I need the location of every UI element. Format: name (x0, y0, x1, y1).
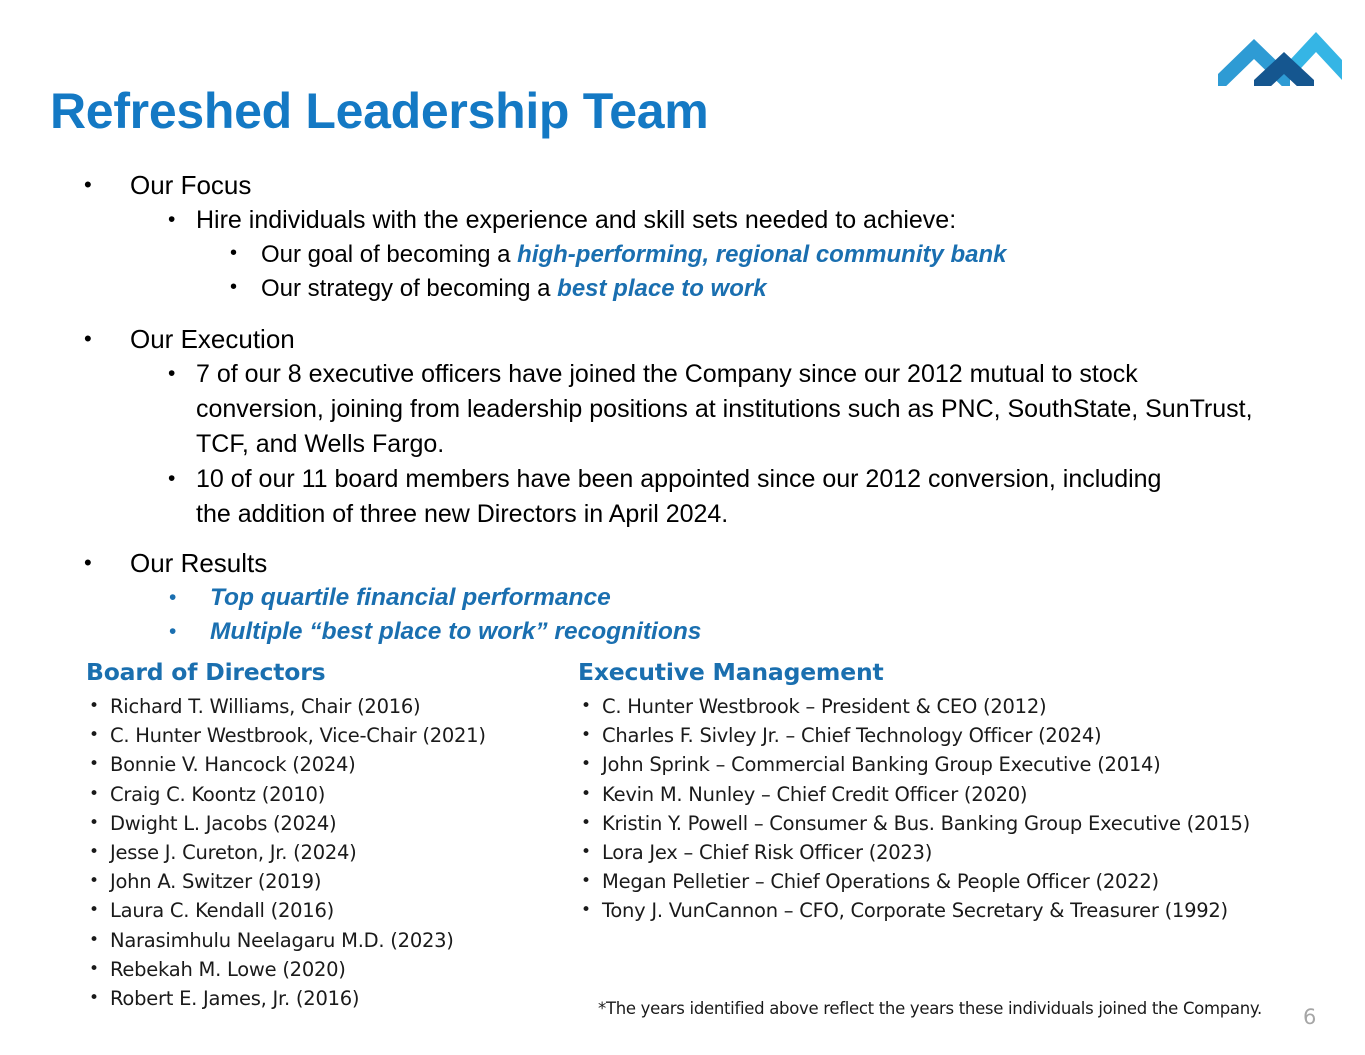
bullet-focus-item-1: • Our strategy of becoming a best place … (0, 272, 1330, 306)
bullet-glyph-icon: • (84, 174, 92, 196)
list-item-label: Tony J. VunCannon – CFO, Corporate Secre… (602, 899, 1228, 922)
list-item: •John A. Switzer (2019) (86, 867, 556, 896)
bullet-glyph-icon: • (581, 750, 591, 779)
list-item: •Narasimhulu Neelagaru M.D. (2023) (86, 926, 556, 955)
list-item-label: Dwight L. Jacobs (2024) (110, 812, 336, 835)
bullet-glyph-icon: • (89, 984, 99, 1013)
results-block: • Our Results • Top quartile financial p… (0, 545, 1330, 649)
bullet-focus-sub: • Hire individuals with the experience a… (0, 203, 1330, 238)
page-number: 6 (1303, 1005, 1316, 1029)
chevron-logo-icon (1216, 14, 1344, 86)
list-item: •Tony J. VunCannon – CFO, Corporate Secr… (578, 896, 1308, 925)
list-item-label: Megan Pelletier – Chief Operations & Peo… (602, 870, 1159, 893)
list-item: •Laura C. Kendall (2016) (86, 896, 556, 925)
bullet-glyph-icon: • (89, 926, 99, 955)
focus-item-0-emphasis: high-performing, regional community bank (517, 241, 1006, 268)
bullet-our-execution: • Our Execution (0, 321, 1330, 357)
list-item-label: Lora Jex – Chief Risk Officer (2023) (602, 841, 932, 864)
list-item: •C. Hunter Westbrook, Vice-Chair (2021) (86, 721, 556, 750)
list-item-label: Kevin M. Nunley – Chief Credit Officer (… (602, 783, 1027, 806)
bullet-glyph-icon: • (169, 587, 176, 608)
chevron-logo (1216, 14, 1344, 86)
list-item-label: Narasimhulu Neelagaru M.D. (2023) (110, 929, 454, 952)
focus-item-0-lead: Our goal of becoming a (261, 241, 517, 268)
bullet-glyph-icon: • (89, 809, 99, 838)
list-item-label: Rebekah M. Lowe (2020) (110, 958, 346, 981)
bullet-our-results: • Our Results (0, 545, 1330, 581)
bullet-glyph-icon: • (89, 721, 99, 750)
list-item: •Lora Jex – Chief Risk Officer (2023) (578, 838, 1308, 867)
bullet-our-focus: • Our Focus (0, 167, 1330, 203)
bullet-glyph-icon: • (581, 809, 591, 838)
focus-item-0: Our goal of becoming a high-performing, … (261, 238, 1330, 272)
focus-heading: Our Focus (130, 167, 1330, 203)
bullet-focus-item-0: • Our goal of becoming a high-performing… (0, 238, 1330, 272)
bullet-glyph-icon: • (581, 838, 591, 867)
list-item-label: Jesse J. Cureton, Jr. (2024) (110, 841, 357, 864)
list-item: •Charles F. Sivley Jr. – Chief Technolog… (578, 721, 1308, 750)
bullet-glyph-icon: • (89, 955, 99, 984)
list-item: •Kristin Y. Powell – Consumer & Bus. Ban… (578, 809, 1308, 838)
bullet-glyph-icon: • (581, 867, 591, 896)
list-item: •Megan Pelletier – Chief Operations & Pe… (578, 867, 1308, 896)
list-item-label: Laura C. Kendall (2016) (110, 899, 334, 922)
page-title: Refreshed Leadership Team (50, 82, 708, 140)
focus-block: • Our Focus • Hire individuals with the … (0, 167, 1330, 306)
bullet-glyph-icon: • (581, 896, 591, 925)
list-item: •Dwight L. Jacobs (2024) (86, 809, 556, 838)
bullet-glyph-icon: • (89, 750, 99, 779)
results-heading: Our Results (130, 545, 1330, 581)
bullet-glyph-icon: • (168, 363, 175, 384)
execution-heading: Our Execution (130, 321, 1330, 357)
list-item-label: Charles F. Sivley Jr. – Chief Technology… (602, 724, 1101, 747)
list-item: •Rebekah M. Lowe (2020) (86, 955, 556, 984)
bullet-glyph-icon: • (581, 692, 591, 721)
bullet-results-item-0: • Top quartile financial performance (0, 581, 1330, 615)
bullet-glyph-icon: • (168, 468, 175, 489)
bullet-glyph-icon: • (581, 780, 591, 809)
executive-management-column: Executive Management •C. Hunter Westbroo… (578, 658, 1308, 926)
bullet-glyph-icon: • (89, 896, 99, 925)
board-of-directors-column: Board of Directors •Richard T. Williams,… (86, 658, 556, 1013)
bullet-glyph-icon: • (581, 721, 591, 750)
bullet-glyph-icon: • (84, 328, 92, 350)
focus-sub-text: Hire individuals with the experience and… (196, 203, 1330, 238)
executive-management-heading: Executive Management (578, 658, 1308, 686)
bullet-glyph-icon: • (89, 867, 99, 896)
footnote: *The years identified above reflect the … (598, 999, 1262, 1018)
list-item-label: John Sprink – Commercial Banking Group E… (602, 753, 1161, 776)
bullet-glyph-icon: • (89, 692, 99, 721)
execution-item-1: 10 of our 11 board members have been app… (196, 462, 1200, 532)
list-item: •Richard T. Williams, Chair (2016) (86, 692, 556, 721)
body-content: • Our Focus • Hire individuals with the … (0, 167, 1330, 649)
spacer (0, 532, 1330, 545)
bullet-execution-item-0: • 7 of our 8 executive officers have joi… (0, 357, 1330, 462)
list-item-label: Robert E. James, Jr. (2016) (110, 987, 359, 1010)
list-item-label: Kristin Y. Powell – Consumer & Bus. Bank… (602, 812, 1250, 835)
list-item: •C. Hunter Westbrook – President & CEO (… (578, 692, 1308, 721)
spacer (0, 306, 1330, 321)
bullet-execution-item-1: • 10 of our 11 board members have been a… (0, 462, 1330, 532)
bullet-glyph-icon: • (84, 552, 92, 574)
list-item: •Jesse J. Cureton, Jr. (2024) (86, 838, 556, 867)
execution-item-0: 7 of our 8 executive officers have joine… (196, 357, 1270, 462)
results-item-0: Top quartile financial performance (210, 581, 1330, 615)
bullet-glyph-icon: • (168, 209, 175, 230)
bullet-glyph-icon: • (230, 277, 237, 297)
focus-item-1-emphasis: best place to work (557, 275, 766, 302)
list-item: •Bonnie V. Hancock (2024) (86, 750, 556, 779)
list-item-label: Richard T. Williams, Chair (2016) (110, 695, 420, 718)
list-item-label: C. Hunter Westbrook, Vice-Chair (2021) (110, 724, 486, 747)
bullet-glyph-icon: • (89, 838, 99, 867)
list-item-label: Bonnie V. Hancock (2024) (110, 753, 356, 776)
list-item: •Kevin M. Nunley – Chief Credit Officer … (578, 780, 1308, 809)
list-item: •Robert E. James, Jr. (2016) (86, 984, 556, 1013)
bullet-glyph-icon: • (230, 243, 237, 263)
focus-item-1: Our strategy of becoming a best place to… (261, 272, 1330, 306)
focus-item-1-lead: Our strategy of becoming a (261, 275, 557, 302)
list-item-label: John A. Switzer (2019) (110, 870, 321, 893)
board-of-directors-heading: Board of Directors (86, 658, 556, 686)
execution-block: • Our Execution • 7 of our 8 executive o… (0, 321, 1330, 532)
results-item-1: Multiple “best place to work” recognitio… (210, 615, 1330, 649)
bullet-glyph-icon: • (89, 780, 99, 809)
list-item-label: Craig C. Koontz (2010) (110, 783, 325, 806)
bullet-glyph-icon: • (169, 621, 176, 642)
list-item: •Craig C. Koontz (2010) (86, 780, 556, 809)
board-of-directors-list: •Richard T. Williams, Chair (2016) •C. H… (86, 692, 556, 1013)
list-item-label: C. Hunter Westbrook – President & CEO (2… (602, 695, 1046, 718)
list-item: •John Sprink – Commercial Banking Group … (578, 750, 1308, 779)
bullet-results-item-1: • Multiple “best place to work” recognit… (0, 615, 1330, 649)
executive-management-list: •C. Hunter Westbrook – President & CEO (… (578, 692, 1308, 926)
